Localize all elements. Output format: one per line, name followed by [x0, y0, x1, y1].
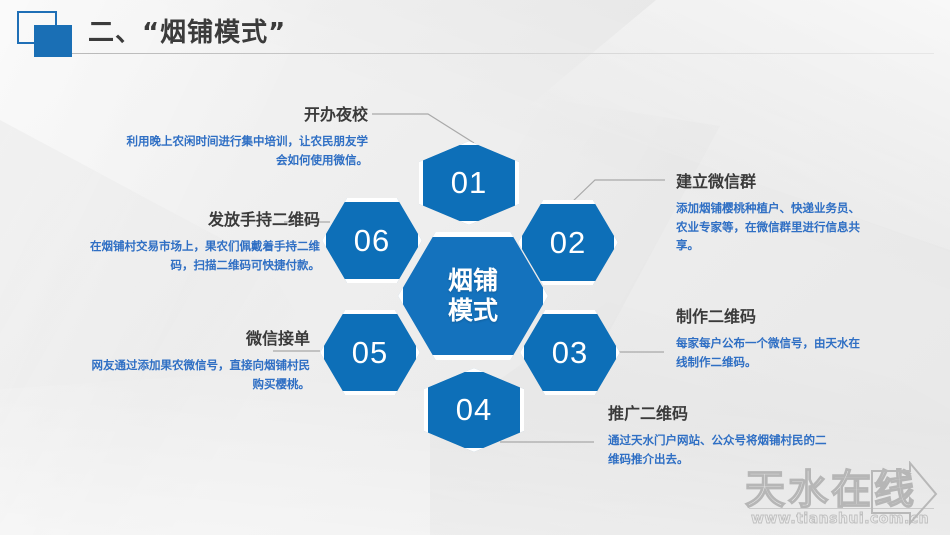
- slide-canvas: 二、“烟铺模式” 烟铺 模式 01 02: [0, 0, 950, 535]
- callout-02-title: 建立微信群: [676, 168, 861, 192]
- callout-05: 微信接单 网友通过添加果农微信号，直接向烟铺村民购买樱桃。: [88, 325, 310, 393]
- callout-05-body: 网友通过添加果农微信号，直接向烟铺村民购买樱桃。: [88, 356, 310, 393]
- callout-02: 建立微信群 添加烟铺樱桃种植户、快递业务员、农业专家等，在微信群里进行信息共享。: [676, 168, 861, 255]
- hexagon-02-number: 02: [550, 225, 586, 261]
- center-hexagon-label: 烟铺 模式: [448, 266, 498, 327]
- connector-line-02: [571, 180, 665, 203]
- play-arrow-icon: [864, 461, 942, 527]
- callout-06-title: 发放手持二维码: [88, 206, 320, 230]
- callout-04-title: 推广二维码: [608, 400, 833, 424]
- callout-01-body: 利用晚上农闲时间进行集中培训，让农民朋友学会如何使用微信。: [118, 132, 368, 169]
- center-label-line1: 烟铺: [448, 266, 498, 297]
- callout-03: 制作二维码 每家每户公布一个微信号，由天水在线制作二维码。: [676, 303, 861, 371]
- callout-01-title: 开办夜校: [118, 101, 368, 125]
- callout-02-body: 添加烟铺樱桃种植户、快递业务员、农业专家等，在微信群里进行信息共享。: [676, 199, 861, 255]
- hexagon-06-number: 06: [354, 223, 390, 259]
- center-label-line2: 模式: [448, 296, 498, 327]
- callout-03-body: 每家每户公布一个微信号，由天水在线制作二维码。: [676, 334, 861, 371]
- watermark: 天水在线 www.tianshui.com.cn: [739, 455, 944, 533]
- callout-05-title: 微信接单: [88, 325, 310, 349]
- hexagon-03-number: 03: [552, 335, 588, 371]
- callout-06: 发放手持二维码 在烟铺村交易市场上，果农们佩戴着手持二维码，扫描二维码可快捷付款…: [88, 206, 320, 274]
- hexagon-04-number: 04: [456, 392, 492, 428]
- hexagon-01-number: 01: [451, 165, 487, 201]
- callout-06-body: 在烟铺村交易市场上，果农们佩戴着手持二维码，扫描二维码可快捷付款。: [88, 237, 320, 274]
- hexagon-05-number: 05: [352, 335, 388, 371]
- callout-03-title: 制作二维码: [676, 303, 861, 327]
- callout-01: 开办夜校 利用晚上农闲时间进行集中培训，让农民朋友学会如何使用微信。: [118, 101, 368, 169]
- connector-line-01: [372, 114, 474, 143]
